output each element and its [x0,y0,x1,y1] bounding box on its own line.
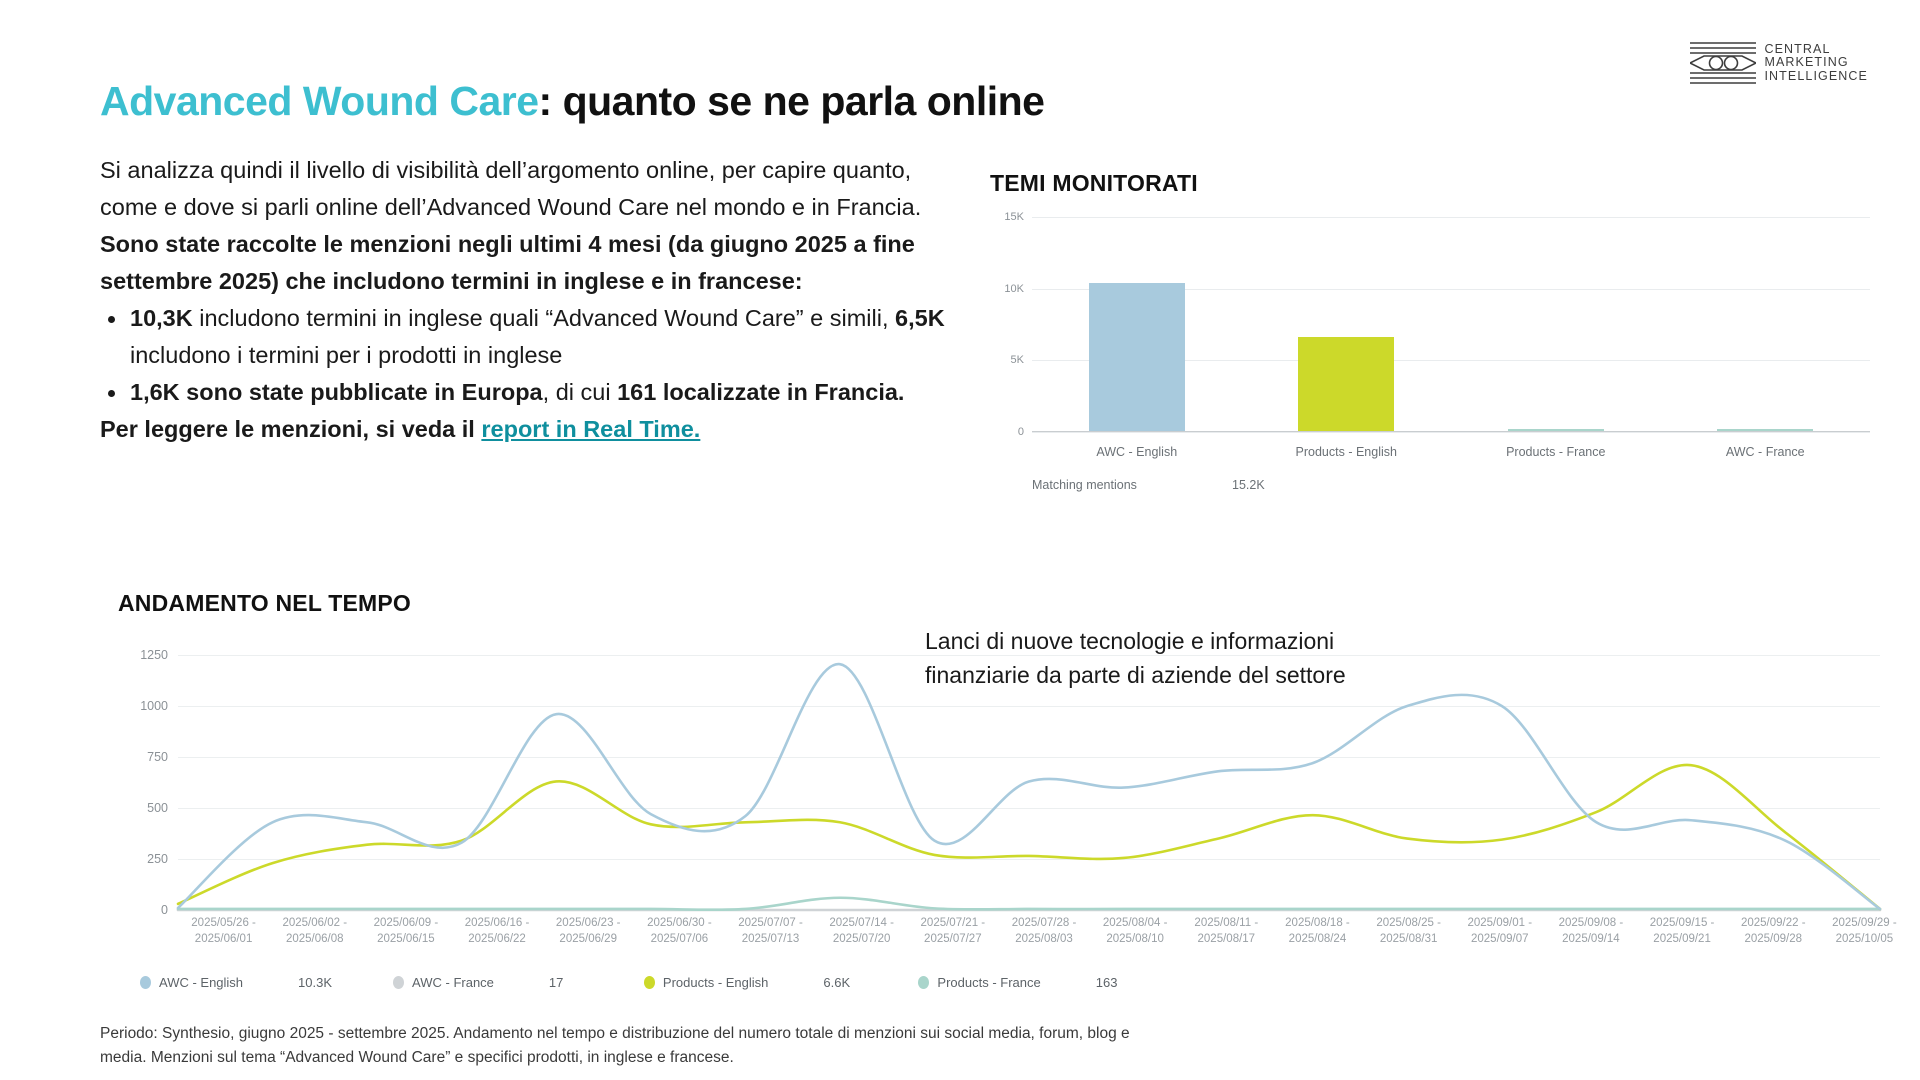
real-time-report-link[interactable]: report in Real Time. [481,416,700,442]
bar-chart-plot: 05K10K15K AWC - EnglishProducts - Englis… [1032,217,1870,432]
bar-x-tick-label: AWC - France [1726,445,1805,459]
bar-series: AWC - EnglishProducts - EnglishProducts … [1032,217,1870,431]
legend-value: 17 [494,975,644,990]
bar-x-tick-label: AWC - English [1096,445,1177,459]
brand-logo: CENTRAL MARKETING INTELLIGENCE [1690,40,1868,86]
line-y-tick-label: 750 [147,750,168,764]
line-x-tick-label: 2025/06/02 -2025/06/08 [269,915,360,947]
line-x-tick-label: 2025/05/26 -2025/06/01 [178,915,269,947]
legend-color-dot [644,976,655,989]
line-y-tick-label: 1250 [140,648,168,662]
line-y-tick-label: 0 [161,903,168,917]
logo-line-3: INTELLIGENCE [1764,70,1868,84]
intro-paragraph-part-2: Sono state raccolte le menzioni negli ul… [100,231,915,294]
line-series-svg [178,655,1880,910]
legend-value: 163 [1041,975,1191,990]
list-item: 10,3K includono termini in inglese quali… [100,300,960,374]
line-series-path[interactable] [178,898,1880,910]
matching-mentions-label: Matching mentions [1032,478,1232,492]
line-series-path[interactable] [178,664,1880,909]
cmi-logo-icon [1690,40,1756,86]
bar-y-tick-label: 15K [1004,211,1024,223]
monitored-themes-chart: TEMI MONITORATI 05K10K15K AWC - EnglishP… [990,170,1870,492]
bar-slot: AWC - France [1661,217,1871,431]
bar[interactable] [1717,429,1813,431]
bullet-2-value-b: 161 [617,379,656,405]
key-figures-list: 10,3K includono termini in inglese quali… [100,300,960,411]
line-chart-title: ANDAMENTO NEL TEMPO [118,590,411,617]
bar[interactable] [1089,283,1185,431]
line-x-tick-label: 2025/07/07 -2025/07/13 [725,915,816,947]
footnote-line-1: Periodo: Synthesio, giugno 2025 - settem… [100,1022,1630,1046]
page-title-highlight: Advanced Wound Care [100,78,539,124]
bar-x-tick-label: Products - English [1296,445,1397,459]
matching-mentions-value: 15.2K [1232,478,1265,492]
line-x-tick-label: 2025/07/21 -2025/07/27 [907,915,998,947]
line-x-tick-label: 2025/07/28 -2025/08/03 [998,915,1089,947]
line-chart-plot: 025050075010001250 [178,655,1880,910]
closing-paragraph: Per leggere le menzioni, si veda il repo… [100,411,960,448]
bullet-2-text-a: , di cui [543,379,617,405]
bullet-1-text-b: includono i termini per i prodotti in in… [130,342,562,368]
list-item: 1,6K sono state pubblicate in Europa, di… [100,374,960,411]
source-footnote: Periodo: Synthesio, giugno 2025 - settem… [100,1022,1630,1070]
legend-label: Products - English [663,975,769,990]
line-x-tick-label: 2025/09/15 -2025/09/21 [1637,915,1728,947]
page-title-rest: : quanto se ne parla online [539,78,1045,124]
line-y-tick-label: 250 [147,852,168,866]
legend-color-dot [393,976,404,989]
line-x-tick-label: 2025/08/04 -2025/08/10 [1090,915,1181,947]
bar-gridline [1032,432,1870,433]
legend-item[interactable]: Products - France163 [918,975,1190,990]
line-x-tick-label: 2025/07/14 -2025/07/20 [816,915,907,947]
bar-slot: Products - France [1451,217,1661,431]
logo-line-2: MARKETING [1764,56,1868,70]
page-title: Advanced Wound Care: quanto se ne parla … [100,78,1044,125]
bullet-1-value-b: 6,5K [895,305,945,331]
line-chart-legend: AWC - English10.3KAWC - France17Products… [140,975,1191,990]
line-series-path[interactable] [178,765,1880,909]
line-y-tick-label: 1000 [140,699,168,713]
legend-item[interactable]: Products - English6.6K [644,975,919,990]
bar-x-tick-label: Products - France [1506,445,1605,459]
line-x-tick-label: 2025/09/22 -2025/09/28 [1728,915,1819,947]
line-x-tick-label: 2025/09/08 -2025/09/14 [1545,915,1636,947]
intro-paragraph: Si analizza quindi il livello di visibil… [100,152,960,300]
line-x-tick-label: 2025/06/30 -2025/07/06 [634,915,725,947]
legend-label: AWC - France [412,975,494,990]
legend-item[interactable]: AWC - English10.3K [140,975,393,990]
logo-text: CENTRAL MARKETING INTELLIGENCE [1764,43,1868,84]
closing-text: Per leggere le menzioni, si veda il [100,416,481,442]
line-chart-x-axis: 2025/05/26 -2025/06/012025/06/02 -2025/0… [178,915,1910,947]
line-x-tick-label: 2025/08/18 -2025/08/24 [1272,915,1363,947]
line-x-tick-label: 2025/09/01 -2025/09/07 [1454,915,1545,947]
line-x-tick-label: 2025/06/23 -2025/06/29 [543,915,634,947]
legend-label: AWC - English [159,975,243,990]
legend-item[interactable]: AWC - France17 [393,975,644,990]
bar[interactable] [1508,429,1604,431]
legend-label: Products - France [937,975,1040,990]
legend-value: 6.6K [768,975,918,990]
logo-line-1: CENTRAL [1764,43,1868,57]
intro-paragraph-part-1: Si analizza quindi il livello di visibil… [100,157,921,220]
footnote-line-2: media. Menzioni sul tema “Advanced Wound… [100,1046,1630,1070]
line-y-tick-label: 500 [147,801,168,815]
bullet-2-text-b: localizzate in Francia. [656,379,904,405]
bar-y-tick-label: 10K [1004,283,1024,295]
bullet-2-value-a: 1,6K sono state pubblicate in Europa [130,379,543,405]
bar-y-tick-label: 0 [1018,426,1024,438]
bullet-1-value-a: 10,3K [130,305,193,331]
bar-chart-footer: Matching mentions 15.2K [1032,478,1870,492]
bar-slot: AWC - English [1032,217,1242,431]
bullet-1-text-a: includono termini in inglese quali “Adva… [193,305,895,331]
bar-slot: Products - English [1242,217,1452,431]
legend-color-dot [918,976,929,989]
line-x-tick-label: 2025/06/09 -2025/06/15 [360,915,451,947]
line-x-tick-label: 2025/08/25 -2025/08/31 [1363,915,1454,947]
intro-text-block: Si analizza quindi il livello di visibil… [100,152,960,448]
line-x-tick-label: 2025/09/29 -2025/10/05 [1819,915,1910,947]
bar-chart-title: TEMI MONITORATI [990,170,1870,197]
trend-over-time-chart: 025050075010001250 [100,645,1890,910]
line-x-tick-label: 2025/08/11 -2025/08/17 [1181,915,1272,947]
legend-value: 10.3K [243,975,393,990]
bar[interactable] [1298,337,1394,431]
line-x-tick-label: 2025/06/16 -2025/06/22 [451,915,542,947]
legend-color-dot [140,976,151,989]
bar-y-tick-label: 5K [1011,354,1024,366]
